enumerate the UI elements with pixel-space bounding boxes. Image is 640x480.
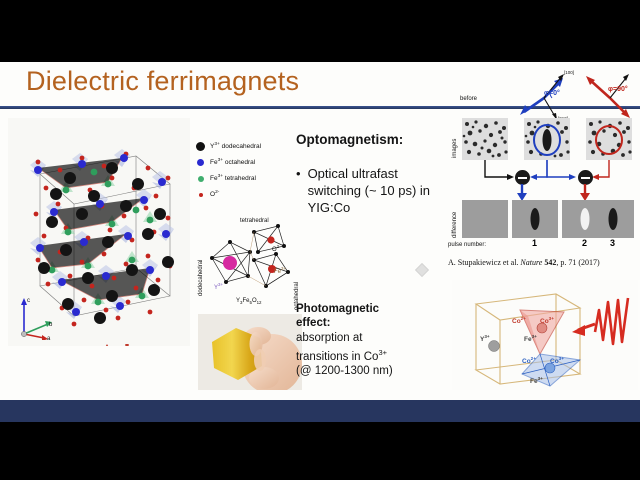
difference-image-3	[592, 200, 634, 238]
photomagnetic-block: Photomagnetic effect: absorption at tran…	[296, 302, 446, 378]
phi-ninety-label: φ=90°	[608, 86, 628, 93]
legend-item: Y3+ dodecahedral	[196, 140, 300, 153]
slide-footer-bar	[0, 400, 640, 422]
phi-zero-label: φ=0°	[544, 90, 560, 97]
structure-legend: Y3+ dodecahedral Fe3+ octahedral Fe3+ te…	[196, 140, 300, 204]
pulse-number-2: 2	[582, 238, 587, 248]
subtract-operator-1	[515, 170, 530, 185]
spin-up-arrow-icon	[102, 344, 112, 346]
switching-experiment-figure: before [100] [010] φ=0°	[440, 58, 636, 256]
difference-row-label: difference	[452, 212, 458, 238]
polyhedra-inset-figure: tetrahedral dodecahedral octahedral O2- …	[192, 202, 304, 314]
image-phi-ninety	[586, 118, 632, 160]
legend-label-fe-tetrahedral: Fe3+ tetrahedral	[210, 174, 256, 182]
polyhedra-label-yttrium: Y3+	[214, 282, 223, 291]
citation-volume: 542	[544, 258, 556, 267]
crystal-structure-figure: c b a 2Fe3+ (oct) 3Fe3+ (tet)	[8, 118, 190, 346]
legend-swatch-fe-tetrahedral	[198, 176, 204, 182]
page-title: Dielectric ferrimagnets	[26, 66, 299, 97]
photomagnetic-heading: Photomagnetic effect:	[296, 302, 446, 330]
cell-label-co3-top: Co3+	[540, 316, 554, 325]
legend-item: O2-	[196, 188, 300, 201]
bullet-marker: •	[296, 165, 301, 216]
polyhedra-label-oxygen: O2-	[272, 244, 281, 253]
pulse-number-1: 1	[532, 238, 537, 248]
video-frame: Dielectric ferrimagnets	[0, 0, 640, 480]
svg-text:c: c	[27, 298, 30, 304]
images-row-label: images	[452, 139, 458, 158]
image-before	[462, 118, 508, 160]
citation-page: , p. 71 (2017)	[556, 258, 599, 267]
legend-item: Fe3+ tetrahedral	[196, 172, 300, 185]
image-phi-zero	[524, 118, 570, 160]
svg-text:b: b	[49, 322, 53, 328]
unit-cell-figure: Co2+ Co3+ Fe3+ Co2+ Co3+ Fe3+ Y3+	[452, 280, 638, 390]
difference-image-1	[512, 200, 558, 238]
cell-label-co2-bottom: Co2+	[522, 356, 536, 365]
before-label: before	[460, 96, 477, 102]
optomagnetism-heading: Optomagnetism:	[296, 132, 446, 147]
cell-label-fe-top: Fe3+	[524, 334, 537, 343]
legend-label-fe-octahedral: Fe3+ octahedral	[210, 158, 255, 166]
phi-ninety-arrows-icon	[582, 72, 638, 122]
laser-pointer-marker	[415, 263, 429, 277]
ferrimagnetic-spin-arrows: 2Fe3+ (oct) 3Fe3+ (tet)	[18, 340, 190, 346]
citation: A. Stupakiewicz et al. Nature 542, p. 71…	[448, 258, 638, 267]
top-letterbox	[0, 0, 640, 62]
legend-item: Fe3+ octahedral	[196, 156, 300, 169]
wafer-photo-graphic	[198, 314, 302, 390]
presentation-slide: Dielectric ferrimagnets	[0, 62, 640, 400]
pulse-number-3: 3	[610, 238, 615, 248]
optomagnetism-bullet: • Optical ultrafast switching (~ 10 ps) …	[296, 165, 446, 216]
polyhedra-label-formula: Y3Fe5O12	[236, 298, 262, 305]
phi-zero-arrows-icon	[516, 72, 572, 122]
spin-down-arrow-icon	[122, 344, 132, 346]
legend-swatch-y-dodecahedral	[196, 142, 205, 151]
subtract-operator-2	[578, 170, 593, 185]
photomagnetic-body: absorption at transitions in Co3+ (@ 120…	[296, 331, 446, 378]
yig-wafer-photo	[198, 314, 302, 390]
legend-swatch-fe-octahedral	[197, 159, 204, 166]
bottom-letterbox	[0, 422, 640, 480]
legend-label-oxygen: O2-	[210, 190, 219, 198]
citation-journal: Nature	[520, 258, 542, 267]
axis-triad-icon: c b a	[14, 294, 58, 340]
difference-image-0	[462, 200, 508, 238]
pulse-number-label: pulse number:	[448, 242, 486, 248]
cell-label-co3-bottom: Co3+	[550, 356, 564, 365]
cell-label-co2-top: Co2+	[512, 316, 526, 325]
direction-100-label: [100]	[564, 70, 574, 75]
citation-authors: A. Stupakiewicz et al.	[448, 258, 518, 267]
polyhedra-label-tetrahedral: tetrahedral	[240, 218, 269, 224]
legend-swatch-oxygen	[199, 193, 203, 197]
legend-label-y-dodecahedral: Y3+ dodecahedral	[210, 142, 261, 150]
cell-label-yttrium: Y3+	[480, 334, 490, 343]
text-column: Optomagnetism: • Optical ultrafast switc…	[296, 132, 446, 216]
polyhedra-label-iron: Fe3+	[274, 266, 286, 275]
polyhedra-label-dodecahedral: dodecahedral	[198, 260, 204, 296]
cell-label-fe-bottom: Fe3+	[530, 376, 543, 385]
bullet-text: Optical ultrafast switching (~ 10 ps) in…	[308, 165, 446, 216]
